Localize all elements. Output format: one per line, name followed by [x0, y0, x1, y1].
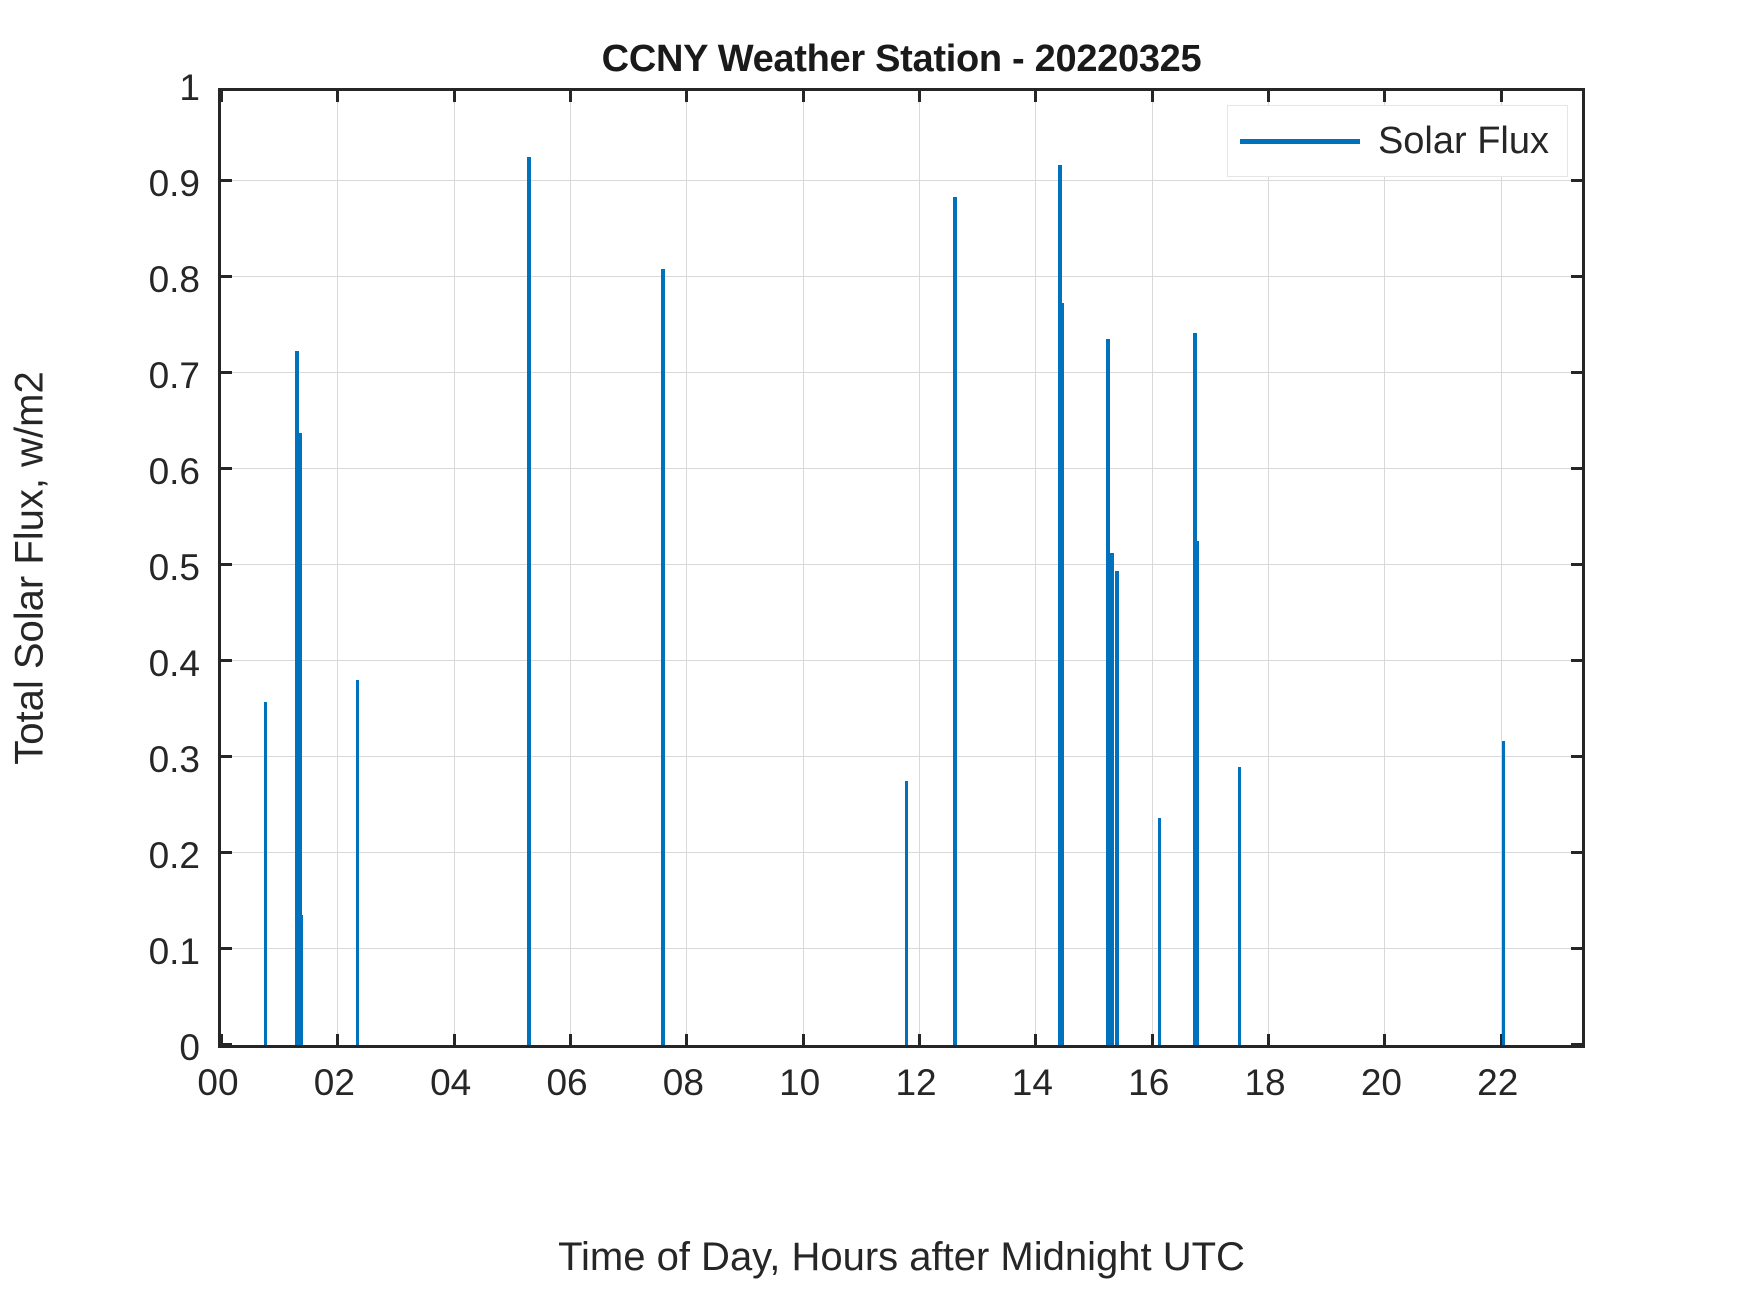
data-impulse: [1195, 541, 1199, 1045]
y-tick-mark: [1571, 659, 1582, 662]
x-tick-mark: [1151, 91, 1154, 102]
gridline-vertical: [1152, 91, 1153, 1045]
x-tick-label: 10: [779, 1062, 820, 1104]
gridline-vertical: [1268, 91, 1269, 1045]
y-tick-mark: [221, 947, 232, 950]
x-tick-mark: [1383, 91, 1386, 102]
data-impulse: [300, 915, 303, 1045]
y-tick-label: 0.4: [149, 643, 200, 685]
y-tick-mark: [1571, 851, 1582, 854]
legend-swatch-solar-flux: [1240, 139, 1360, 144]
data-impulse: [264, 702, 267, 1045]
x-tick-mark: [1383, 1034, 1386, 1045]
x-tick-label: 18: [1244, 1062, 1285, 1104]
gridline-horizontal: [221, 564, 1582, 565]
y-tick-label: 1: [179, 67, 200, 109]
y-tick-mark: [221, 563, 232, 566]
x-tick-label: 12: [895, 1062, 936, 1104]
y-tick-mark: [1571, 467, 1582, 470]
x-tick-mark: [1034, 91, 1037, 102]
x-axis-label: Time of Day, Hours after Midnight UTC: [218, 1235, 1585, 1280]
data-impulse: [1110, 553, 1114, 1045]
x-tick-label: 00: [197, 1062, 238, 1104]
gridline-vertical: [570, 91, 571, 1045]
y-tick-mark: [1571, 371, 1582, 374]
x-tick-mark: [685, 1034, 688, 1045]
x-tick-mark: [336, 1034, 339, 1045]
gridline-horizontal: [221, 756, 1582, 757]
data-impulse: [1238, 767, 1241, 1045]
x-tick-mark: [685, 91, 688, 102]
data-impulse: [356, 680, 359, 1045]
x-tick-mark: [569, 91, 572, 102]
y-tick-label: 0.7: [149, 355, 200, 397]
y-tick-mark: [1571, 563, 1582, 566]
gridline-horizontal: [221, 948, 1582, 949]
x-tick-mark: [802, 1034, 805, 1045]
x-tick-mark: [918, 1034, 921, 1045]
x-tick-mark: [569, 1034, 572, 1045]
gridline-vertical: [337, 91, 338, 1045]
data-impulse: [1158, 818, 1161, 1045]
gridline-vertical: [919, 91, 920, 1045]
gridline-vertical: [1384, 91, 1385, 1045]
figure-canvas: CCNY Weather Station - 20220325 Total So…: [0, 0, 1750, 1313]
gridline-vertical: [1035, 91, 1036, 1045]
y-tick-mark: [1571, 179, 1582, 182]
x-tick-label: 04: [430, 1062, 471, 1104]
y-tick-label: 0.9: [149, 163, 200, 205]
y-tick-mark: [221, 467, 232, 470]
x-tick-label: 06: [546, 1062, 587, 1104]
data-impulse: [527, 157, 531, 1045]
x-tick-mark: [220, 91, 223, 102]
data-impulse: [1115, 571, 1119, 1045]
x-tick-mark: [1500, 91, 1503, 102]
y-tick-mark: [221, 371, 232, 374]
gridline-horizontal: [221, 660, 1582, 661]
plot-area: Solar Flux: [218, 88, 1585, 1048]
x-tick-mark: [453, 1034, 456, 1045]
gridline-horizontal: [221, 276, 1582, 277]
y-tick-label: 0.1: [149, 931, 200, 973]
x-tick-mark: [220, 1034, 223, 1045]
data-impulse: [953, 197, 957, 1045]
y-tick-mark: [221, 659, 232, 662]
y-tick-label: 0.3: [149, 739, 200, 781]
x-tick-label: 20: [1361, 1062, 1402, 1104]
x-tick-mark: [336, 91, 339, 102]
data-impulse: [905, 781, 908, 1045]
y-tick-label: 0.8: [149, 259, 200, 301]
x-tick-mark: [918, 91, 921, 102]
gridline-horizontal: [221, 372, 1582, 373]
x-tick-mark: [453, 91, 456, 102]
gridline-horizontal: [221, 852, 1582, 853]
y-tick-mark: [1571, 1043, 1582, 1046]
x-tick-mark: [1267, 1034, 1270, 1045]
data-impulse: [1060, 303, 1064, 1045]
data-impulse: [661, 269, 665, 1045]
y-tick-mark: [221, 275, 232, 278]
x-tick-mark: [802, 91, 805, 102]
x-tick-mark: [1034, 1034, 1037, 1045]
x-tick-label: 02: [314, 1062, 355, 1104]
gridline-vertical: [454, 91, 455, 1045]
legend-label-solar-flux: Solar Flux: [1378, 120, 1549, 163]
x-tick-label: 22: [1477, 1062, 1518, 1104]
x-tick-mark: [1151, 1034, 1154, 1045]
y-tick-label: 0.2: [149, 835, 200, 877]
y-axis-label: Total Solar Flux, w/m2: [8, 371, 53, 764]
x-tick-label: 16: [1128, 1062, 1169, 1104]
gridline-horizontal: [221, 468, 1582, 469]
y-tick-mark: [1571, 275, 1582, 278]
y-tick-label: 0.5: [149, 547, 200, 589]
x-tick-mark: [1267, 91, 1270, 102]
y-tick-mark: [221, 755, 232, 758]
y-tick-mark: [221, 179, 232, 182]
y-tick-mark: [1571, 947, 1582, 950]
y-tick-label: 0.6: [149, 451, 200, 493]
gridline-vertical: [803, 91, 804, 1045]
x-tick-label: 14: [1012, 1062, 1053, 1104]
gridline-vertical: [686, 91, 687, 1045]
y-axis-label-container: Total Solar Flux, w/m2: [0, 88, 60, 1048]
data-impulse: [1502, 741, 1505, 1045]
page-title: CCNY Weather Station - 20220325: [218, 38, 1585, 81]
gridline-horizontal: [221, 180, 1582, 181]
x-tick-label: 08: [663, 1062, 704, 1104]
legend: Solar Flux: [1227, 105, 1568, 177]
y-tick-mark: [1571, 755, 1582, 758]
y-tick-mark: [221, 851, 232, 854]
